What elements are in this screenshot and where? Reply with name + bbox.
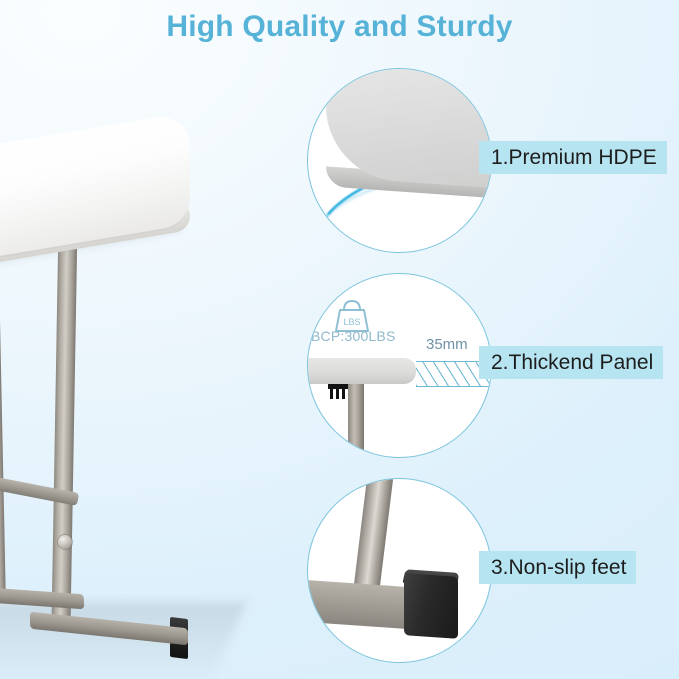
panel-tabletop-section (307, 358, 416, 384)
page-title: High Quality and Sturdy (0, 10, 679, 44)
feature-circle-non-slip-feet (307, 478, 492, 663)
product-photo (0, 120, 300, 640)
feature-label-text: 2.Thickend Panel (491, 351, 653, 375)
table-leg-left (0, 230, 6, 602)
feature-circle-premium-hdpe (307, 68, 492, 253)
feature-circle-thickend-panel: LBS BCP:300LBS 35mm (307, 273, 492, 458)
foot-rail-closeup (307, 579, 410, 629)
non-slip-foot-cap-icon (404, 573, 458, 639)
feature-label-premium-hdpe: 1.Premium HDPE (479, 141, 667, 174)
feature-label-text: 3.Non-slip feet (491, 556, 626, 580)
weight-capacity-code: BCP:300LBS (311, 328, 396, 344)
table-leg-closeup (352, 478, 393, 600)
brace-rivet (58, 535, 72, 549)
panel-clip-icon (326, 382, 350, 404)
feature-label-thickend-panel: 2.Thickend Panel (479, 346, 663, 379)
table-leg-right (52, 224, 78, 624)
weight-icon-text: LBS (343, 317, 360, 327)
infographic-canvas: High Quality and Sturdy 1.Premium HDPE (0, 0, 679, 679)
feature-label-text: 1.Premium HDPE (491, 146, 657, 170)
panel-thickness-label: 35mm (426, 336, 468, 353)
feature-label-non-slip-feet: 3.Non-slip feet (479, 551, 636, 584)
